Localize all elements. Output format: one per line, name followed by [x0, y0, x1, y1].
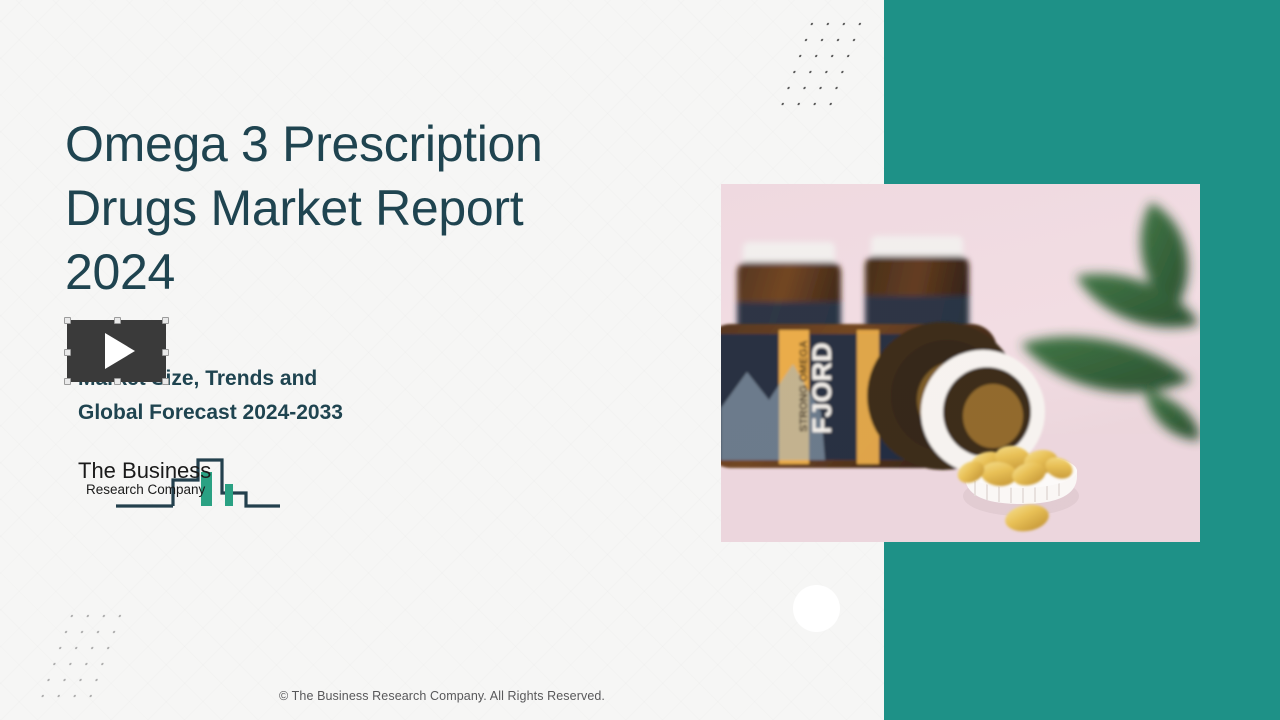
- video-play-overlay[interactable]: [67, 320, 166, 382]
- resize-handle-bottom-right[interactable]: [162, 378, 169, 385]
- play-triangle-icon: [105, 333, 135, 369]
- page-title: Omega 3 Prescription Drugs Market Report…: [65, 112, 625, 304]
- slide-canvas: Omega 3 Prescription Drugs Market Report…: [0, 0, 1280, 720]
- product-photo: SOURCE FJORD STRONG OMEGA: [721, 184, 1200, 542]
- subtitle-line-2: Global Forecast 2024-2033: [78, 396, 508, 430]
- resize-handle-bottom-left[interactable]: [64, 378, 71, 385]
- resize-handle-bottom-center[interactable]: [114, 378, 121, 385]
- circle-decoration: [793, 585, 840, 632]
- logo-name-top: The Business: [78, 458, 211, 483]
- resize-handle-top-center[interactable]: [114, 317, 121, 324]
- resize-handle-middle-left[interactable]: [64, 349, 71, 356]
- resize-handle-top-right[interactable]: [162, 317, 169, 324]
- resize-handle-middle-right[interactable]: [162, 349, 169, 356]
- dot-pattern-bottom-left-decoration: [33, 608, 132, 700]
- play-button[interactable]: [67, 320, 166, 382]
- dot-pattern-top-right-decoration: [773, 16, 872, 108]
- logo-name-bottom: Research Company: [86, 482, 206, 497]
- resize-handle-top-left[interactable]: [64, 317, 71, 324]
- company-logo: The Business Research Company: [70, 448, 285, 510]
- copyright-footer: © The Business Research Company. All Rig…: [0, 689, 884, 703]
